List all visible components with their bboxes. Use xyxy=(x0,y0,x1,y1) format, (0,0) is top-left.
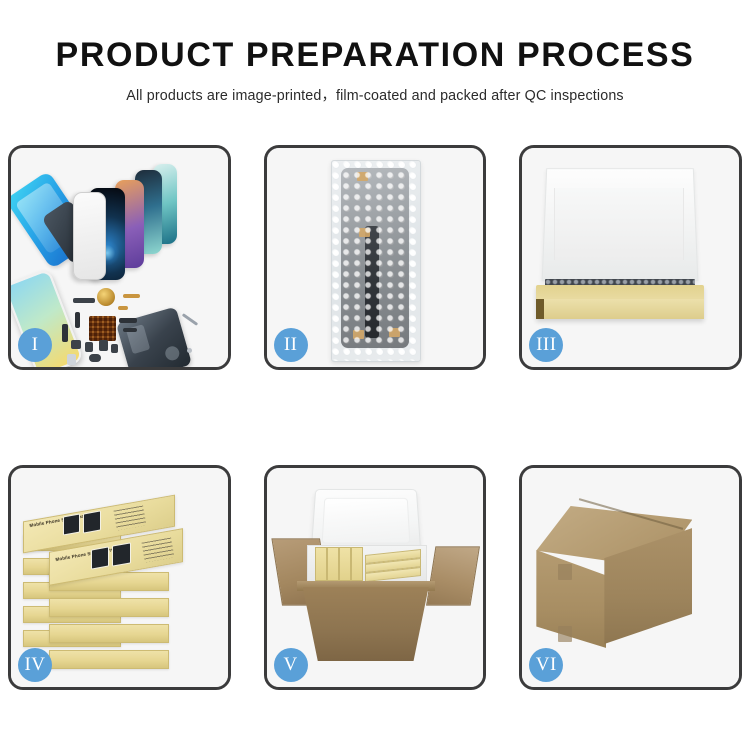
step-panel-3[interactable]: III Wrapped parts placed into yellow inn… xyxy=(519,145,742,370)
box-print-screen-b1-icon xyxy=(63,514,80,536)
page-title: PRODUCT PREPARATION PROCESS xyxy=(0,38,750,74)
foam-lid-inner-icon xyxy=(554,188,684,260)
process-steps-grid: I Phone screens, LCD assemblies and spar… xyxy=(0,145,750,690)
carton-body-icon xyxy=(303,587,429,661)
carton-ybox-1 xyxy=(315,547,327,581)
stacked-box-fr-4 xyxy=(49,650,169,669)
carton-ybox-4 xyxy=(351,547,363,581)
component-chip-1-icon xyxy=(73,298,95,303)
speaker-coil-icon xyxy=(97,288,115,306)
yellow-box-left-edge-icon xyxy=(536,299,544,319)
page-subtitle: All products are image-printed，film-coat… xyxy=(0,84,750,105)
screwdriver-icon xyxy=(182,313,198,326)
step-badge-2: II xyxy=(274,328,308,362)
ribbon-cable-2-icon xyxy=(119,318,137,323)
ribbon-cable-1-icon xyxy=(75,312,80,328)
tape-piece-2-icon xyxy=(359,228,370,237)
step-badge-5: V xyxy=(274,648,308,682)
step-panel-1[interactable]: I Phone screens, LCD assemblies and spar… xyxy=(8,145,231,370)
flex-cable-1-icon xyxy=(123,294,140,298)
step-panel-4[interactable]: Mobile Phone Spare Parts Mobile Phone Sp… xyxy=(8,465,231,690)
phone-chassis-icon xyxy=(116,307,192,370)
phone-display-1-icon xyxy=(73,192,106,280)
screw-icon xyxy=(187,348,192,353)
step-badge-1: I xyxy=(18,328,52,362)
circuit-board-icon xyxy=(89,316,116,341)
component-chip-4-icon xyxy=(99,340,108,351)
wrapped-flex-cable-icon xyxy=(365,226,379,338)
stacked-box-fr-3 xyxy=(49,624,169,643)
camera-module-icon xyxy=(89,354,101,362)
step-panel-5[interactable]: V Boxes loaded into shipping carton with… xyxy=(264,465,487,690)
step-badge-4: IV xyxy=(18,648,52,682)
component-chip-2-icon xyxy=(71,340,81,349)
carton-ybox-3 xyxy=(339,547,351,581)
ribbon-cable-4-icon xyxy=(62,324,68,342)
tape-piece-4-icon xyxy=(389,328,400,337)
carton-ybox-2 xyxy=(327,547,339,581)
component-chip-5-icon xyxy=(111,344,118,353)
flex-cable-2-icon xyxy=(118,306,128,310)
box-print-screen-f2-icon xyxy=(112,542,131,566)
box-print-screen-b2-icon xyxy=(83,510,101,533)
sealed-carton-tape-top-icon xyxy=(558,564,572,580)
box-print-screen-f1-icon xyxy=(91,546,109,569)
tape-piece-3-icon xyxy=(353,330,364,339)
sealed-carton-tape-bottom-icon xyxy=(558,626,572,642)
stacked-box-fr-2 xyxy=(49,598,169,617)
sim-tray-icon xyxy=(67,354,76,365)
carton-flap-right-icon xyxy=(426,546,480,605)
page-header: PRODUCT PREPARATION PROCESS All products… xyxy=(0,0,750,105)
tape-piece-1-icon xyxy=(357,172,368,181)
step-panel-6[interactable]: VI Carton sealed and taped, ready for sh… xyxy=(519,465,742,690)
yellow-box-front-icon xyxy=(536,299,704,319)
ribbon-cable-3-icon xyxy=(123,328,137,332)
step-panel-2[interactable]: II Screen assembly sealed in bubble wrap… xyxy=(264,145,487,370)
component-chip-3-icon xyxy=(85,342,93,352)
